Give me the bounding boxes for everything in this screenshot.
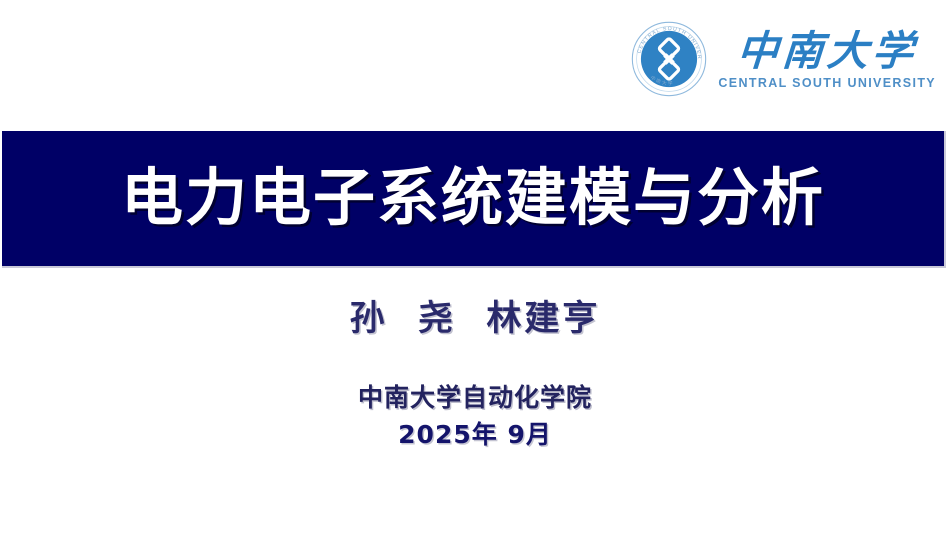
author-names: 孙 尧 林建亨 (0, 300, 950, 339)
university-name-chinese: 中南大学 (736, 30, 919, 73)
university-wordmark: 中南大学 CENTRAL SOUTH UNIVERSITY (718, 28, 936, 90)
page-title: 电力电子系统建模与分析 (121, 167, 825, 231)
presentation-date: 2025年 9月 (0, 419, 950, 450)
byline-block: 孙 尧 林建亨 中南大学自动化学院 2025年 9月 (0, 300, 950, 450)
title-banner: 电力电子系统建模与分析 (2, 131, 946, 268)
title-slide: CENTRAL SOUTH UNIVERSITY 中南大学 中南大学 CENTR… (0, 0, 950, 535)
university-name-english: CENTRAL SOUTH UNIVERSITY (718, 76, 936, 90)
university-emblem-icon: CENTRAL SOUTH UNIVERSITY 中南大学 (630, 20, 708, 98)
university-logo: CENTRAL SOUTH UNIVERSITY 中南大学 中南大学 CENTR… (630, 20, 936, 98)
affiliation-text: 中南大学自动化学院 (0, 382, 950, 413)
